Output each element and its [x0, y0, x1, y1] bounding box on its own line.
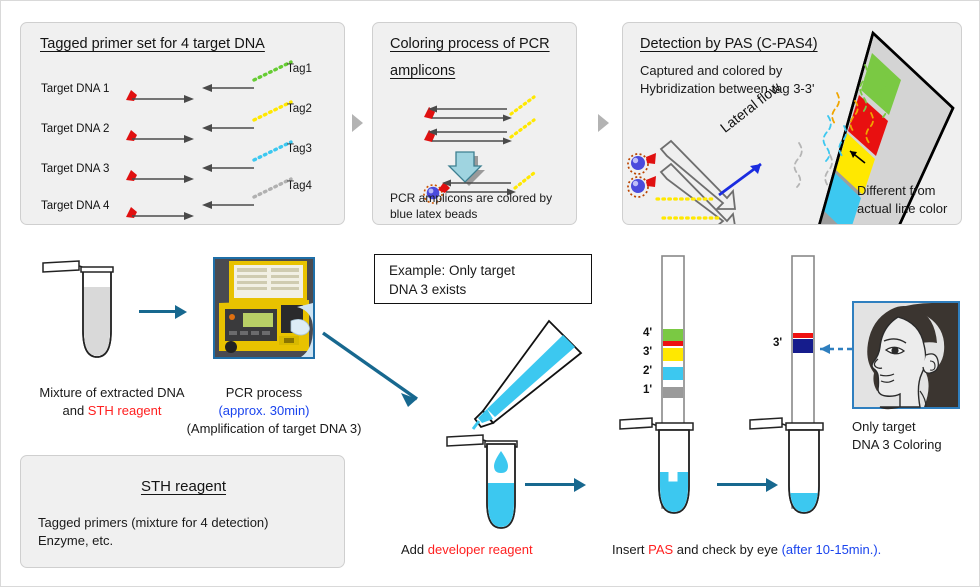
- eye-check-illustration: [852, 301, 960, 409]
- band-red-line: [793, 333, 813, 338]
- developer-reagent-text: developer reagent: [428, 542, 533, 557]
- target-dna-label: Target DNA 2: [41, 123, 109, 135]
- pas-strip-result-tube: [756, 253, 866, 531]
- target-dna-label: Target DNA 4: [41, 200, 109, 212]
- band-label-3prime: 3': [643, 346, 652, 358]
- sth-reagent-text: STH reagent: [88, 403, 162, 418]
- eye-result-line1: Only target: [852, 418, 916, 435]
- time-note-text: (after 10-15min.).: [782, 542, 882, 557]
- panel-flow-arrow-2: [598, 114, 609, 132]
- workflow-arrow-2: [321, 331, 436, 416]
- example-line2: DNA 3 exists: [389, 281, 466, 298]
- panel2-caption-line2: blue latex beads: [390, 206, 477, 222]
- workflow-arrow-1-line: [139, 310, 176, 313]
- step2-caption-line1: PCR process: [199, 384, 329, 401]
- band-gray: [663, 387, 683, 398]
- panel-detection-by-pas: Detection by PAS (C-PAS4) Captured and c…: [622, 22, 962, 225]
- panel-tagged-primer-set: Tagged primer set for 4 target DNA Targe…: [20, 22, 345, 225]
- sth-box-title: STH reagent: [21, 476, 346, 497]
- pas-text: PAS: [648, 542, 673, 557]
- panel3-title: Detection by PAS (C-PAS4): [640, 34, 818, 55]
- step4-plain-a: Insert: [612, 542, 648, 557]
- band-yellow: [663, 348, 683, 361]
- step4-caption: Insert PAS and check by eye (after 10-15…: [612, 541, 881, 558]
- step2-caption-line2: (approx. 30min): [199, 402, 329, 419]
- example-line1: Example: Only target: [389, 262, 515, 279]
- panel3-sub-line1: Captured and colored by: [640, 62, 782, 79]
- band-label-2prime: 2': [643, 365, 652, 377]
- pipette-adding-developer: [451, 311, 611, 526]
- flow-double-arrow: [661, 141, 735, 225]
- target-dna-label: Target DNA 3: [41, 163, 109, 175]
- band-cyan: [663, 367, 683, 380]
- workflow-arrow-3-head: [574, 478, 586, 492]
- example-callout-box: Example: Only target DNA 3 exists: [374, 254, 592, 304]
- sth-reagent-box: STH reagent Tagged primers (mixture for …: [20, 455, 345, 568]
- panel2-caption-line1: PCR amplicons are colored by: [390, 190, 552, 206]
- panel3-sub-line2: Hybridization between tag 3-3': [640, 80, 814, 97]
- pcr-device-photo: [213, 257, 315, 359]
- tag-label: Tag2: [287, 103, 312, 115]
- step3-caption: Add developer reagent: [401, 541, 533, 558]
- step1-caption-line1: Mixture of extracted DNA: [22, 384, 202, 401]
- result-band-label: 3': [773, 337, 782, 349]
- panel2-title-line1: Coloring process of PCR: [390, 34, 550, 55]
- step4-plain-b: and check by eye: [673, 542, 781, 557]
- panel-flow-arrow-1: [352, 114, 363, 132]
- panel1-title: Tagged primer set for 4 target DNA: [40, 34, 265, 55]
- step3-plain: Add: [401, 542, 428, 557]
- target-dna-label: Target DNA 1: [41, 83, 109, 95]
- workflow-arrow-1-head: [175, 305, 187, 319]
- tag-label: Tag3: [287, 143, 312, 155]
- panel3-note-line2: actual line color: [857, 200, 947, 217]
- panel2-title-line2: amplicons: [390, 61, 455, 82]
- step2-caption-line3: (Amplification of target DNA 3): [179, 420, 369, 437]
- workflow-arrow-3-line: [525, 483, 575, 486]
- sample-tube-1: [35, 253, 120, 373]
- band-label-1prime: 1': [643, 384, 652, 396]
- amplicon-diagram: [421, 90, 566, 200]
- tag-label: Tag1: [287, 63, 312, 75]
- eye-result-line2: DNA 3 Coloring: [852, 436, 942, 453]
- sth-box-line1: Tagged primers (mixture for 4 detection): [38, 514, 268, 531]
- panel3-note-line1: Different from: [857, 182, 936, 199]
- band-label-4prime: 4': [643, 327, 652, 339]
- tag-label: Tag4: [287, 180, 312, 192]
- band-green: [663, 329, 683, 341]
- band-red-line: [663, 341, 683, 346]
- bead-cluster: [628, 153, 656, 197]
- step1-caption-line2: and STH reagent: [22, 402, 202, 419]
- panel-coloring-process: Coloring process of PCR amplicons: [372, 22, 577, 225]
- sth-box-line2: Enzyme, etc.: [38, 532, 113, 549]
- figure-canvas: Tagged primer set for 4 target DNA Targe…: [0, 0, 980, 587]
- step1-plain: and: [62, 403, 87, 418]
